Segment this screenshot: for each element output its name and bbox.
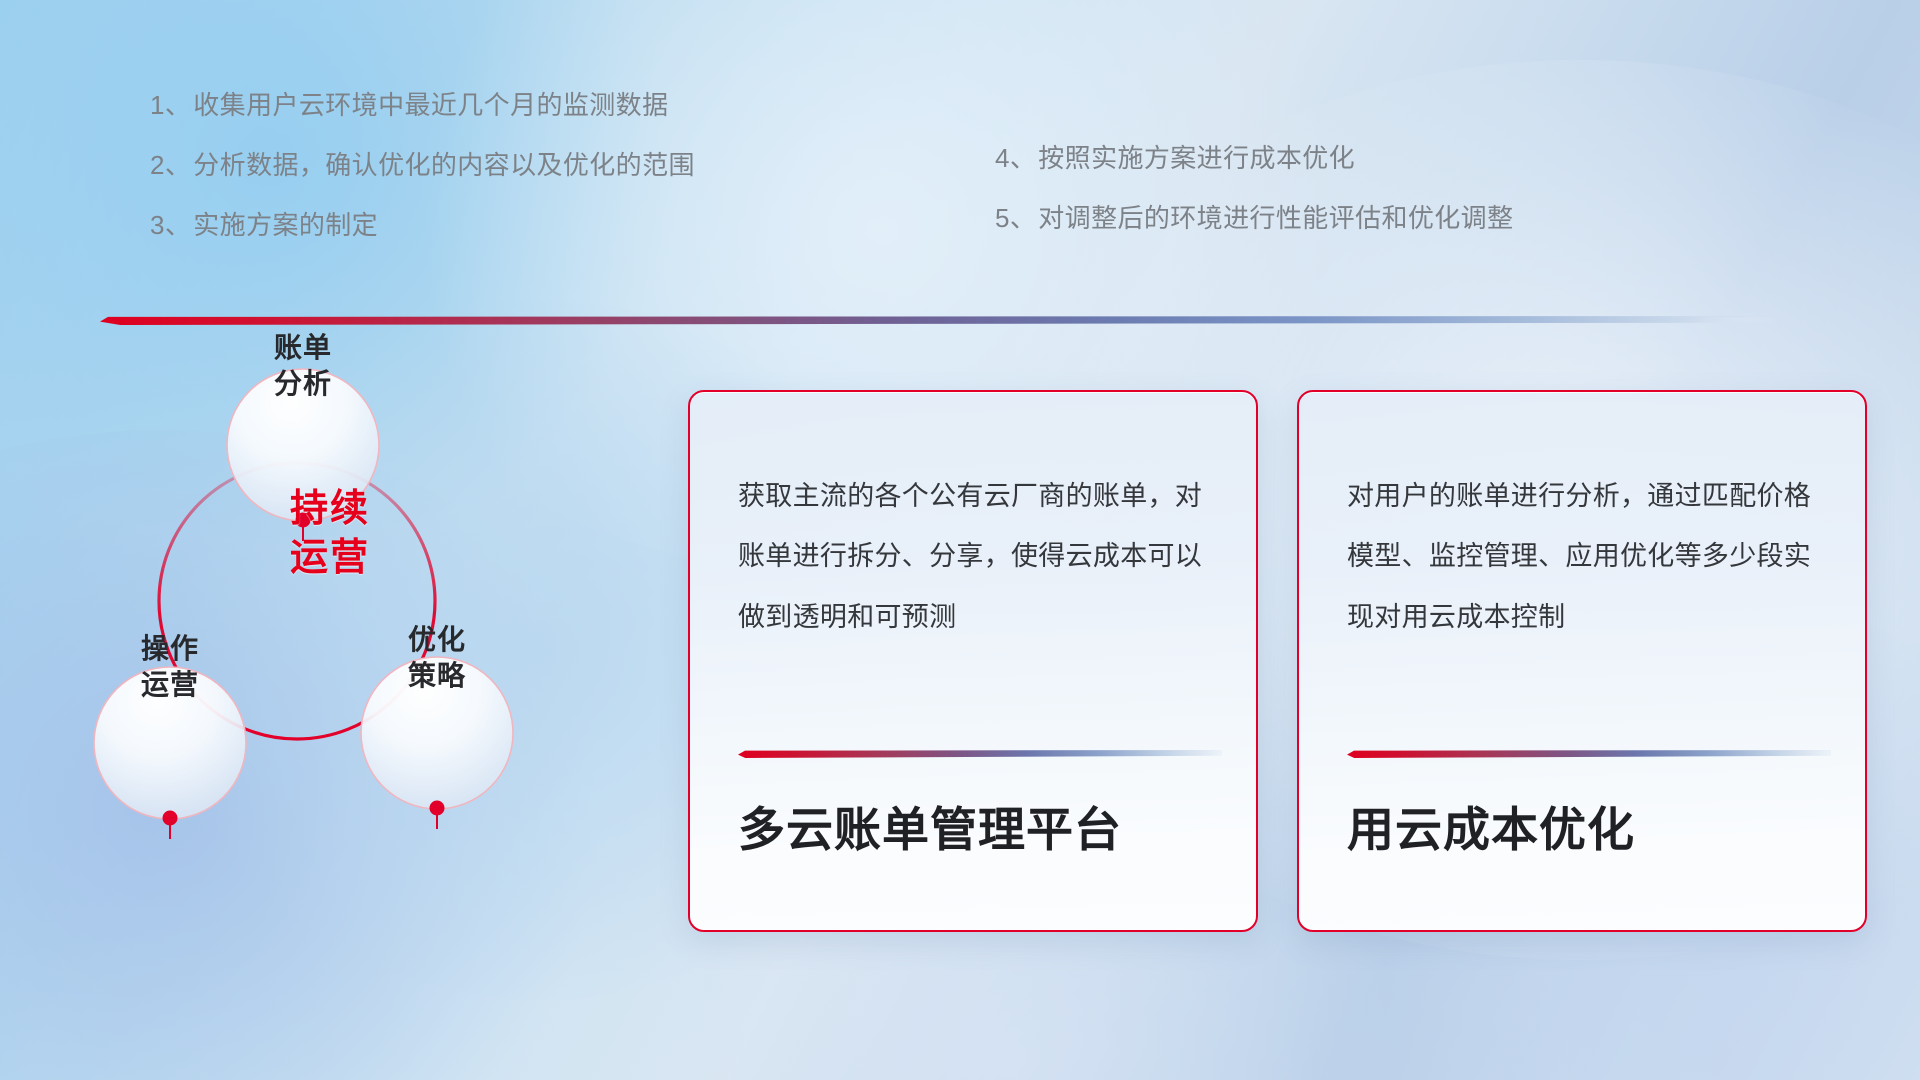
card-divider-bar [738,750,1222,758]
list-item-number: 4、 [995,145,1036,171]
bubble-label-left: 操作 运营 [95,631,245,703]
list-item-number: 5、 [995,205,1036,231]
junction-dot-right [430,801,445,816]
card-title: 用云成本优化 [1347,802,1831,858]
card-body-text: 获取主流的各个公有云厂商的账单，对账单进行拆分、分享，使得云成本可以做到透明和可… [738,466,1222,647]
list-item-text: 对调整后的环境进行性能评估和优化调整 [1038,205,1513,231]
bubble-label-right: 优化 策略 [362,622,512,694]
section-divider [100,316,1780,325]
list-item: 3、 实施方案的制定 [150,212,695,238]
card-divider [738,750,1222,758]
slide-canvas: 1、 收集用户云环境中最近几个月的监测数据 2、 分析数据，确认优化的内容以及优… [0,0,1920,1080]
info-card-cloud-cost-optimization[interactable]: 对用户的账单进行分析，通过匹配价格模型、监控管理、应用优化等多少段实现对用云成本… [1297,390,1867,932]
list-item-text: 实施方案的制定 [193,212,378,238]
steps-list-right: 4、 按照实施方案进行成本优化 5、 对调整后的环境进行性能评估和优化调整 [995,145,1513,265]
list-item-number: 3、 [150,212,191,238]
list-item-text: 分析数据，确认优化的内容以及优化的范围 [193,152,695,178]
card-divider-bar [1347,750,1831,758]
section-divider-bar [100,316,1780,325]
card-title: 多云账单管理平台 [738,802,1222,858]
list-item-number: 2、 [150,152,191,178]
info-card-multicloud-billing[interactable]: 获取主流的各个公有云厂商的账单，对账单进行拆分、分享，使得云成本可以做到透明和可… [688,390,1258,932]
bubble-label-top: 账单 分析 [228,330,378,402]
list-item-text: 收集用户云环境中最近几个月的监测数据 [193,92,668,118]
cycle-center-label: 持续 运营 [250,485,410,584]
list-item: 2、 分析数据，确认优化的内容以及优化的范围 [150,152,695,178]
card-divider [1347,750,1831,758]
list-item-text: 按照实施方案进行成本优化 [1038,145,1355,171]
card-body-text: 对用户的账单进行分析，通过匹配价格模型、监控管理、应用优化等多少段实现对用云成本… [1347,466,1831,647]
list-item: 1、 收集用户云环境中最近几个月的监测数据 [150,92,695,118]
list-item: 5、 对调整后的环境进行性能评估和优化调整 [995,205,1513,231]
list-item-number: 1、 [150,92,191,118]
junction-dot-left [163,811,178,826]
steps-list-left: 1、 收集用户云环境中最近几个月的监测数据 2、 分析数据，确认优化的内容以及优… [150,92,695,272]
list-item: 4、 按照实施方案进行成本优化 [995,145,1513,171]
